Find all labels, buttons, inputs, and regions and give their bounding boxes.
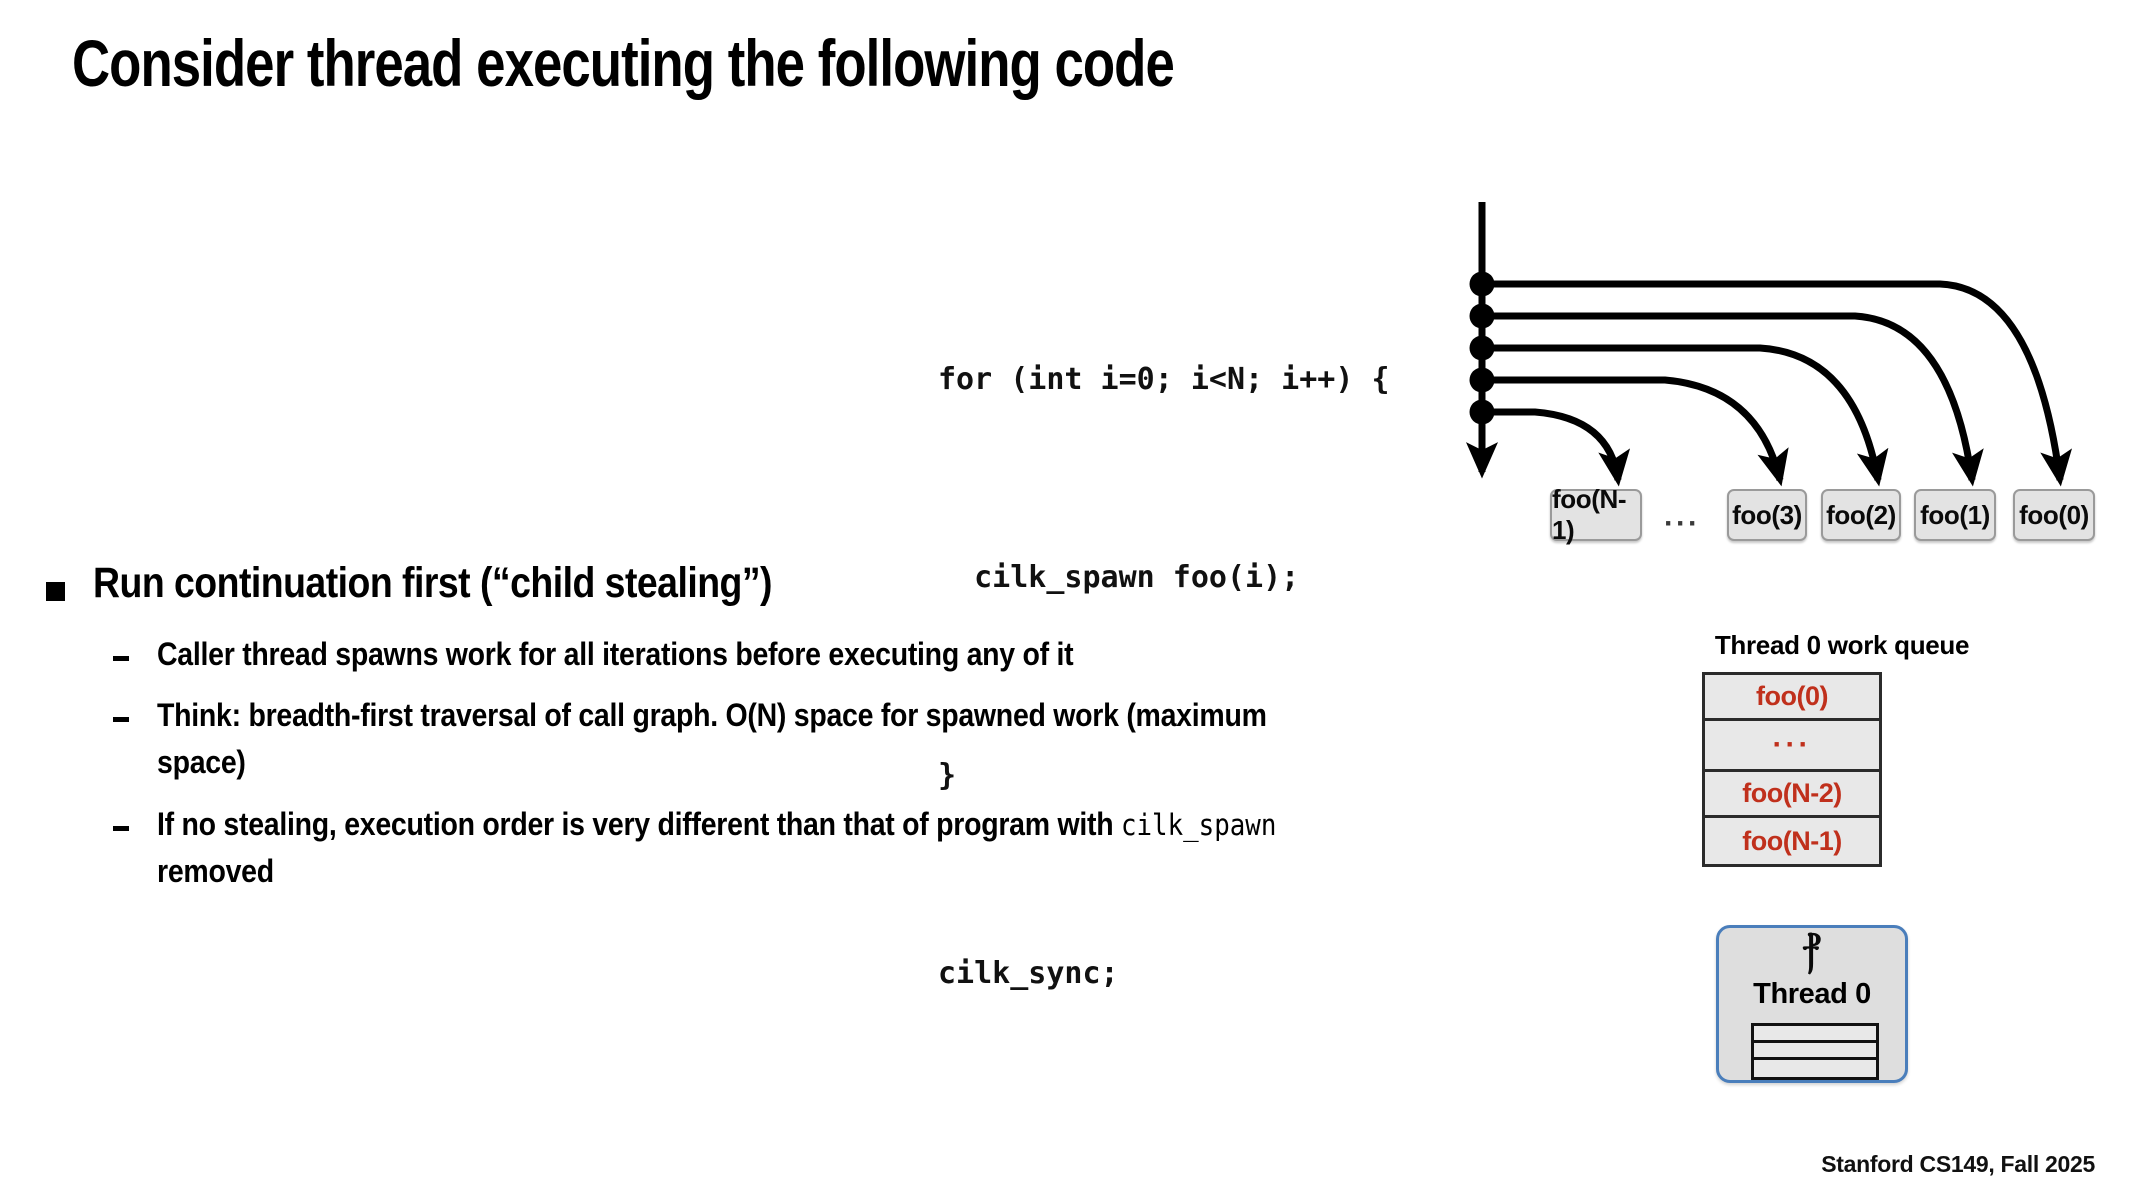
bullet-main-label: Run continuation first (“child stealing”… bbox=[93, 558, 772, 609]
bullet-main: Run continuation first (“child stealing”… bbox=[46, 558, 1466, 609]
thread-stack-row bbox=[1754, 1043, 1876, 1060]
sub-bullet-2-label: Think: breadth-first traversal of call g… bbox=[157, 692, 1305, 787]
work-queue-box: foo(0) ··· foo(N-2) foo(N-1) bbox=[1702, 672, 1882, 867]
sub-bullet-3-label: If no stealing, execution order is very … bbox=[157, 801, 1305, 896]
sub-bullet-3-lead: If no stealing, execution order is very … bbox=[157, 806, 1121, 842]
thread-stack-row bbox=[1754, 1060, 1876, 1077]
work-queue-item-label: foo(N-1) bbox=[1742, 826, 1841, 857]
work-queue-row: foo(0) bbox=[1705, 675, 1879, 721]
thread-stack-row bbox=[1754, 1026, 1876, 1043]
sub-bullet-list: Caller thread spawns work for all iterat… bbox=[113, 631, 1466, 896]
bullet-list: Run continuation first (“child stealing”… bbox=[46, 558, 1466, 910]
thread-stack bbox=[1751, 1023, 1879, 1080]
work-queue-item-label: foo(N-2) bbox=[1742, 778, 1841, 809]
work-queue-ellipsis: ··· bbox=[1773, 730, 1812, 760]
spawn-box-label: foo(N-1) bbox=[1552, 484, 1640, 546]
spawn-box-foo-1: foo(1) bbox=[1914, 489, 1996, 541]
spawn-box-foo-0: foo(0) bbox=[2013, 489, 2095, 541]
sub-bullet-3-tail: removed bbox=[157, 853, 274, 889]
work-queue-row: foo(N-1) bbox=[1705, 818, 1879, 864]
work-queue-row: foo(N-2) bbox=[1705, 772, 1879, 818]
spawn-box-label: foo(3) bbox=[1732, 500, 1802, 531]
dash-bullet-icon bbox=[113, 717, 129, 722]
work-queue-item-label: foo(0) bbox=[1756, 681, 1828, 712]
page-title: Consider thread executing the following … bbox=[72, 27, 1174, 100]
spawn-box-label: foo(2) bbox=[1826, 500, 1896, 531]
thread-label: Thread 0 bbox=[1719, 978, 1905, 1011]
code-line-4: cilk_sync; bbox=[938, 941, 1390, 1007]
sub-bullet-3-code: cilk_spawn bbox=[1121, 808, 1276, 842]
slide-footer: Stanford CS149, Fall 2025 bbox=[1821, 1151, 2095, 1178]
thread-box: ⳨ Thread 0 bbox=[1716, 925, 1908, 1083]
spawn-boxes-ellipsis: ··· bbox=[1664, 509, 1700, 539]
thread-activity-squiggle-icon: ⳨ bbox=[1719, 932, 1905, 972]
square-bullet-icon bbox=[46, 582, 65, 601]
spawn-arrow-foo3 bbox=[1482, 380, 1780, 480]
spawn-box-label: foo(0) bbox=[2019, 500, 2089, 531]
spawn-box-foo-3: foo(3) bbox=[1727, 489, 1807, 541]
sub-bullet-1-label: Caller thread spawns work for all iterat… bbox=[157, 631, 1305, 678]
spawn-box-foo-n-1: foo(N-1) bbox=[1550, 489, 1642, 541]
spawn-arrow-fooN1 bbox=[1482, 412, 1618, 480]
work-queue-title: Thread 0 work queue bbox=[1672, 630, 2012, 661]
sub-bullet-1: Caller thread spawns work for all iterat… bbox=[113, 631, 1466, 678]
spawn-box-label: foo(1) bbox=[1920, 500, 1990, 531]
dash-bullet-icon bbox=[113, 656, 129, 661]
sub-bullet-3: If no stealing, execution order is very … bbox=[113, 801, 1466, 896]
code-line-1: for (int i=0; i<N; i++) { bbox=[938, 347, 1390, 413]
sub-bullet-2: Think: breadth-first traversal of call g… bbox=[113, 692, 1466, 787]
dash-bullet-icon bbox=[113, 826, 129, 831]
spawn-box-foo-2: foo(2) bbox=[1821, 489, 1901, 541]
work-queue-row: ··· bbox=[1705, 721, 1879, 772]
